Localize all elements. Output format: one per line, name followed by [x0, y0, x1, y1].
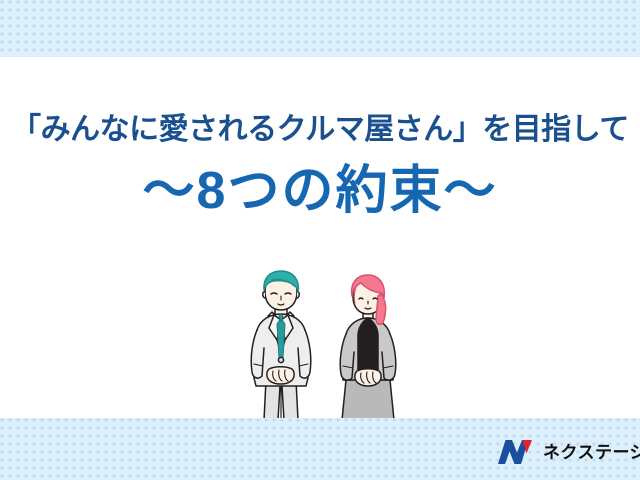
nextage-logo-text: ネクステージ — [543, 444, 640, 461]
headline-line-2: 〜8つの約束〜 — [0, 160, 640, 222]
top-polka-dot-band — [0, 0, 640, 57]
promo-banner: 「みんなに愛されるクルマ屋さん」を目指して 〜8つの約束〜 — [0, 0, 640, 480]
male-staff-figure — [251, 271, 311, 420]
nextage-n-mark-icon — [498, 439, 536, 465]
nextage-logo: ネクステージ — [498, 437, 640, 467]
headline-block: 「みんなに愛されるクルマ屋さん」を目指して 〜8つの約束〜 — [0, 108, 640, 222]
staff-bowing-illustration — [236, 268, 422, 420]
headline-line-1: 「みんなに愛されるクルマ屋さん」を目指して — [0, 108, 640, 152]
female-staff-figure — [340, 275, 396, 420]
